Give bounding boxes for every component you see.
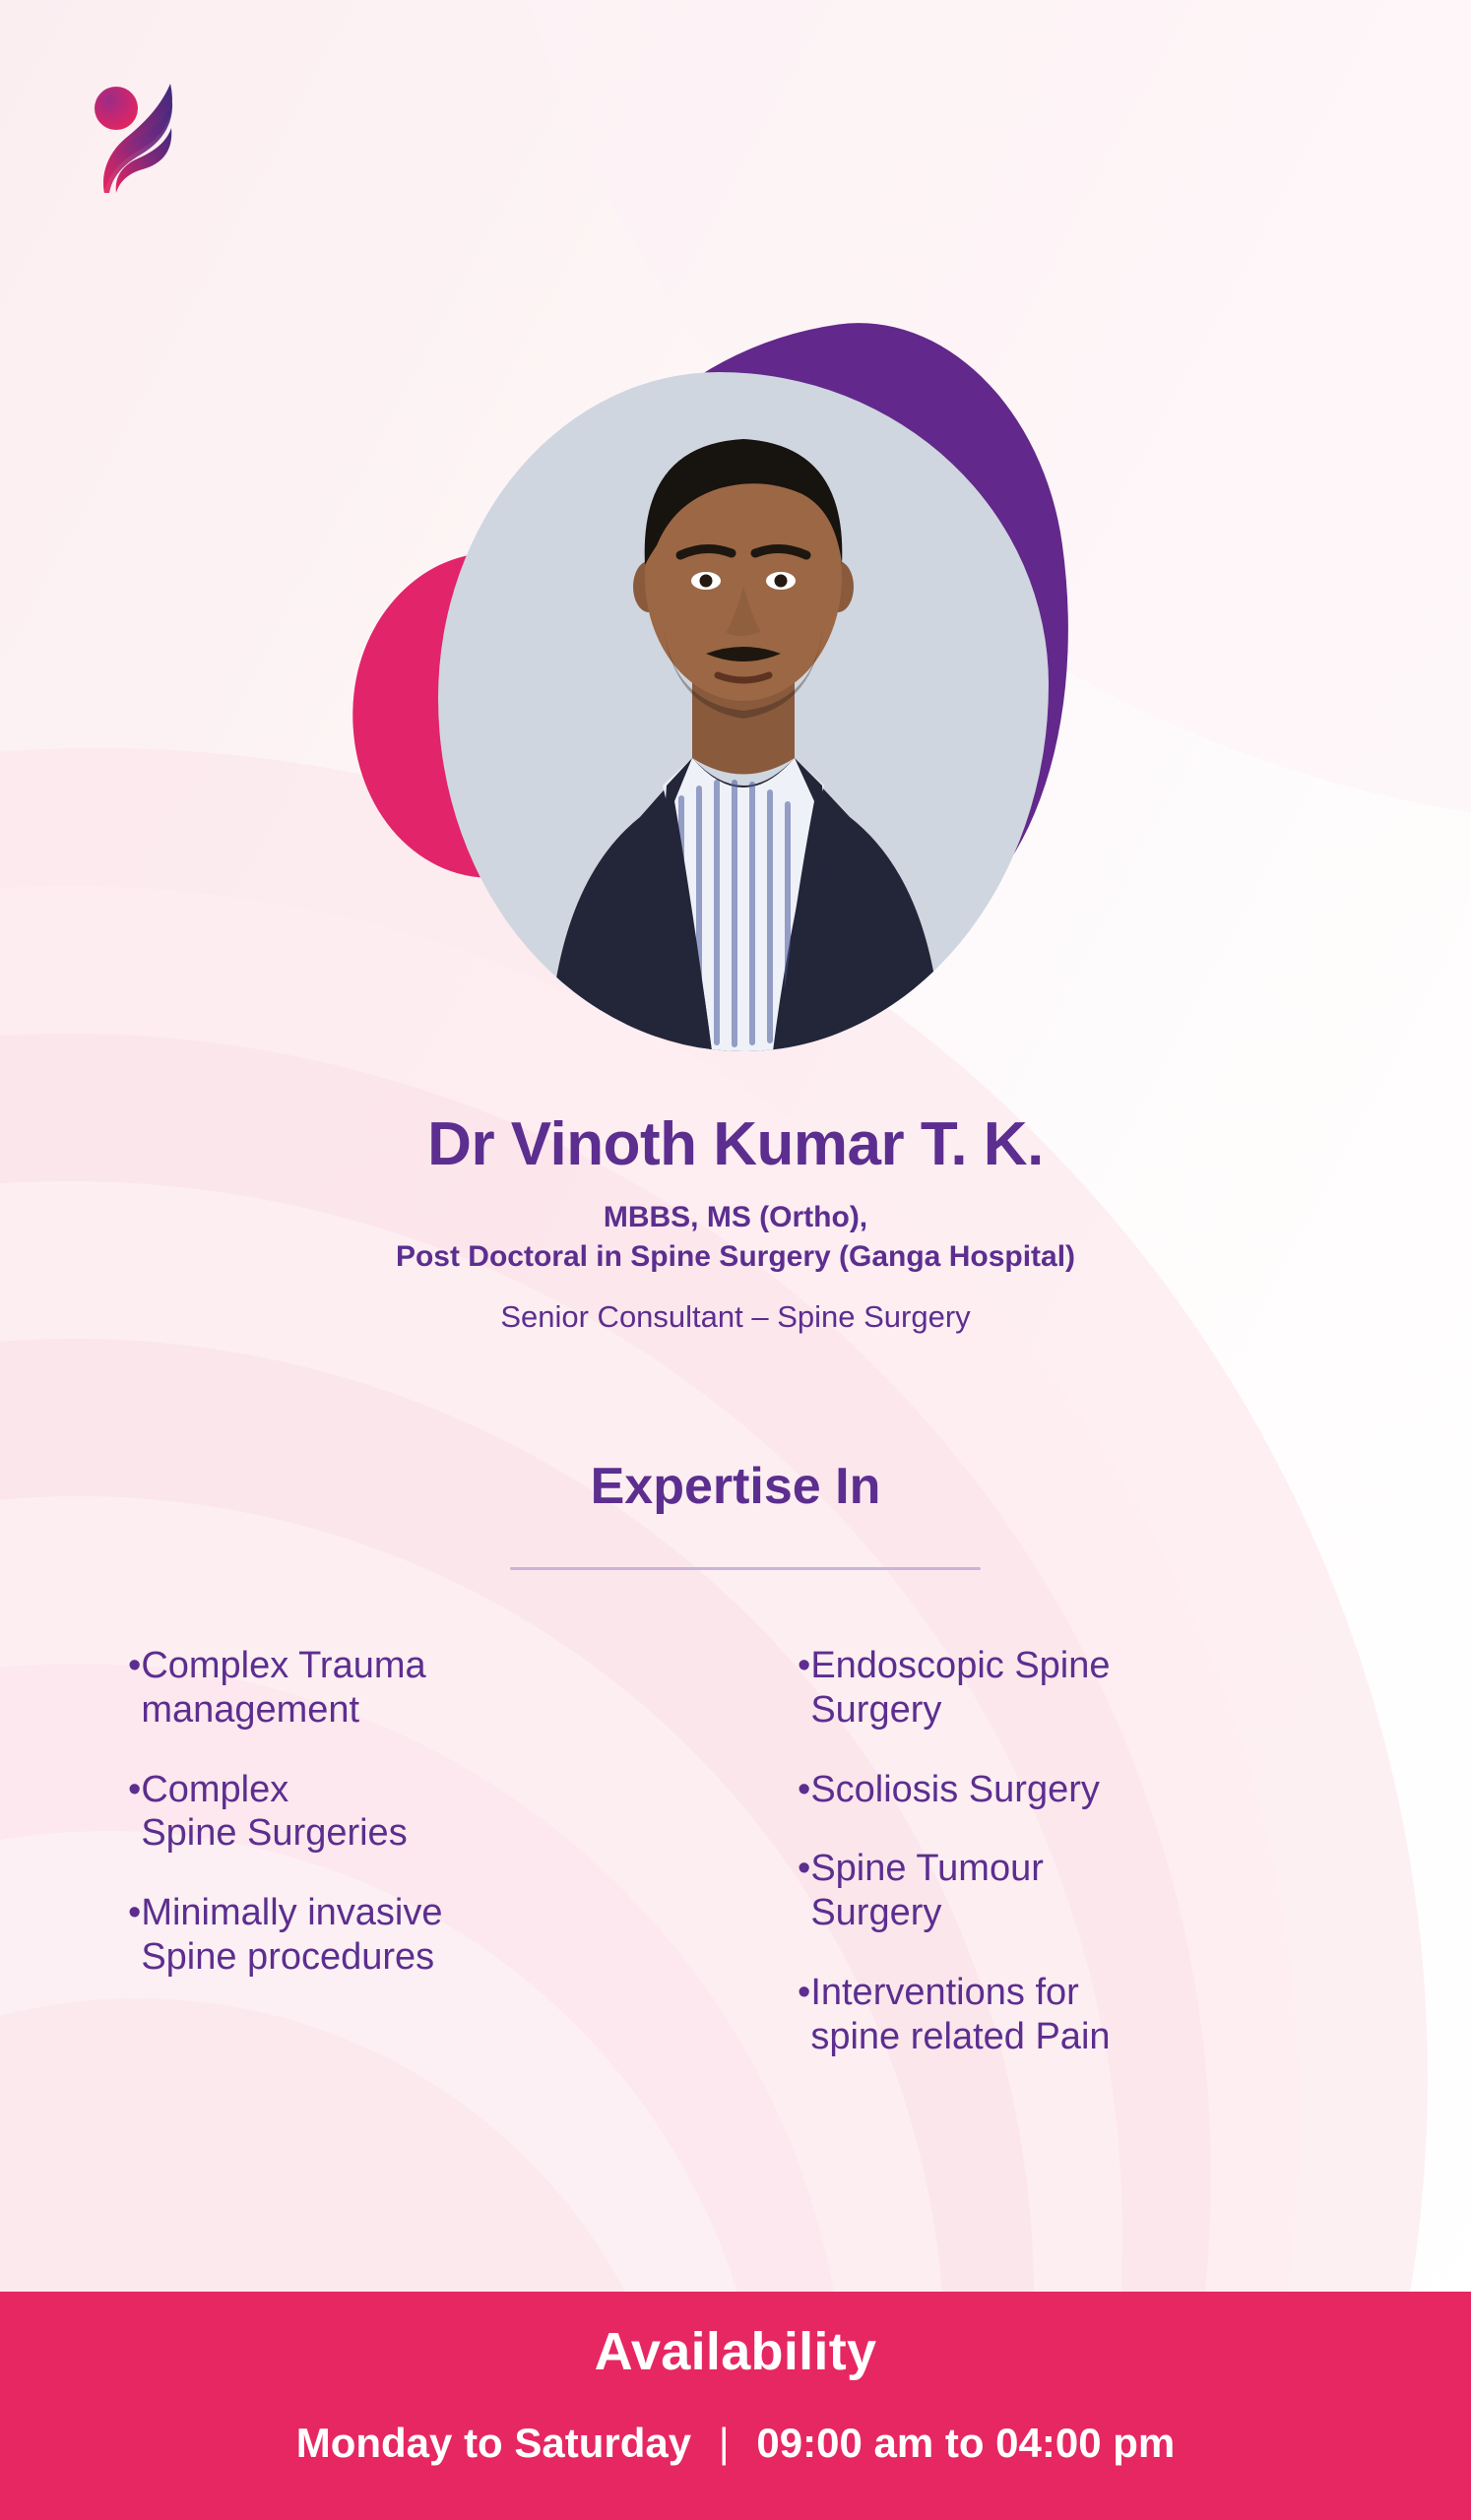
availability-days: Monday to Saturday (296, 2420, 691, 2466)
expertise-label: Endoscopic Spine Surgery (810, 1644, 1110, 1732)
expertise-columns: • Complex Trauma management • Complex Sp… (128, 1644, 1349, 2095)
clinic-logo-icon (65, 53, 211, 217)
portrait-composition (325, 285, 1113, 1073)
page-title: Dr Vinoth Kumar T. K. (0, 1112, 1471, 1176)
list-item: • Complex Trauma management (128, 1644, 640, 1732)
availability-hours: 09:00 am to 04:00 pm (756, 2420, 1175, 2466)
heading-divider (510, 1567, 981, 1570)
availability-banner: Availability Monday to Saturday | 09:00 … (0, 2292, 1471, 2520)
expertise-column-left: • Complex Trauma management • Complex Sp… (128, 1644, 640, 2095)
expertise-label: Interventions for spine related Pain (810, 1971, 1110, 2059)
expertise-column-right: • Endoscopic Spine Surgery • Scoliosis S… (798, 1644, 1310, 2095)
expertise-label: Scoliosis Surgery (810, 1768, 1100, 1812)
list-item: • Complex Spine Surgeries (128, 1768, 640, 1857)
bullet-icon: • (128, 1644, 141, 1688)
bullet-icon: • (128, 1768, 141, 1812)
doctor-name-block: Dr Vinoth Kumar T. K. MBBS, MS (Ortho), … (0, 1112, 1471, 1338)
bullet-icon: • (798, 1971, 810, 2015)
expertise-label: Spine Tumour Surgery (810, 1847, 1044, 1935)
bullet-icon: • (798, 1644, 810, 1688)
credentials-line-1: MBBS, MS (Ortho), (0, 1198, 1471, 1237)
list-item: • Scoliosis Surgery (798, 1768, 1310, 1812)
doctor-credentials: MBBS, MS (Ortho), Post Doctoral in Spine… (0, 1198, 1471, 1276)
expertise-label: Complex Trauma management (141, 1644, 425, 1732)
bullet-icon: • (128, 1891, 141, 1935)
availability-separator: | (703, 2420, 745, 2466)
expertise-label: Minimally invasive Spine procedures (141, 1891, 442, 1980)
availability-title: Availability (0, 2321, 1471, 2382)
list-item: • Endoscopic Spine Surgery (798, 1644, 1310, 1732)
availability-details: Monday to Saturday | 09:00 am to 04:00 p… (0, 2420, 1471, 2467)
doctor-profile-poster: Dr Vinoth Kumar T. K. MBBS, MS (Ortho), … (0, 0, 1471, 2520)
bullet-icon: • (798, 1768, 810, 1812)
bullet-icon: • (798, 1847, 810, 1891)
doctor-designation: Senior Consultant – Spine Surgery (0, 1297, 1471, 1337)
list-item: • Minimally invasive Spine procedures (128, 1891, 640, 1980)
list-item: • Interventions for spine related Pain (798, 1971, 1310, 2059)
list-item: • Spine Tumour Surgery (798, 1847, 1310, 1935)
expertise-label: Complex Spine Surgeries (141, 1768, 407, 1857)
credentials-line-2: Post Doctoral in Spine Surgery (Ganga Ho… (0, 1237, 1471, 1277)
doctor-photo (438, 372, 1049, 1051)
expertise-heading: Expertise In (0, 1457, 1471, 1516)
